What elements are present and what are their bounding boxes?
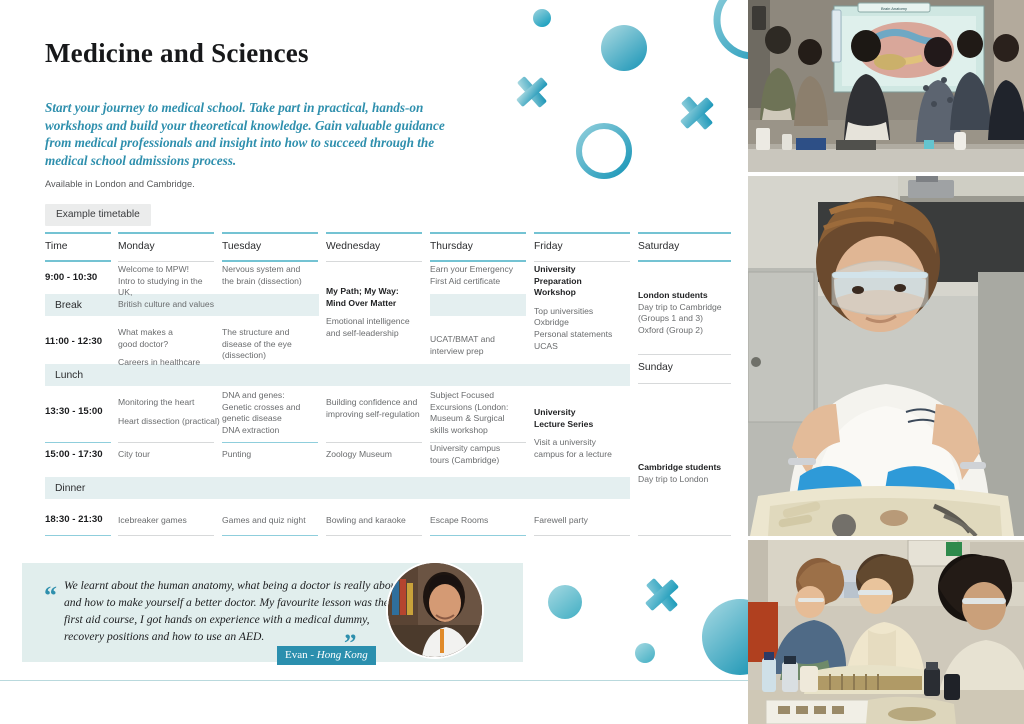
bottom-rule-friday <box>534 535 630 536</box>
cell-line: and self-leadership <box>326 328 399 338</box>
cell-line: British culture and values <box>118 299 214 309</box>
cell-line: Farewell party <box>534 515 588 525</box>
bottom-rule-saturday <box>638 535 731 536</box>
decorative-shapes-top <box>510 0 748 200</box>
deco-ring-medium <box>579 126 629 176</box>
brochure-page: Medicine and Sciences Start your journey… <box>0 0 1024 724</box>
cell-line: Earn your Emergency <box>430 264 513 274</box>
band-break-thursday-filler <box>430 294 526 316</box>
cell-wednesday-slot4: Zoology Museum <box>326 449 430 461</box>
column-header-saturday: Saturday <box>638 232 731 262</box>
deco-ring-large <box>717 0 748 56</box>
cell-line: Subject Focused <box>430 390 494 400</box>
cell-line: The structure and <box>222 327 289 337</box>
cell-wednesday-slot1: My Path; My Way: Mind Over Matter Emotio… <box>326 286 426 339</box>
page-intro: Start your journey to medical school. Ta… <box>45 99 465 169</box>
cell-tuesday-slot2: The structure and disease of the eye (di… <box>222 327 322 362</box>
row-rule-time <box>45 442 111 443</box>
timetable: Time Monday Tuesday Wednesday Thursday F… <box>45 232 731 537</box>
cell-monday-slot5: Icebreaker games <box>118 515 222 527</box>
cell-line-bold: Workshop <box>534 287 634 299</box>
cell-line: improving self-regulation <box>326 409 420 419</box>
deco-cross-right <box>672 88 723 139</box>
cell-line: good doctor? <box>118 339 168 349</box>
content-column: Medicine and Sciences Start your journey… <box>0 0 748 724</box>
cell-tuesday-slot1: Nervous system and the brain (dissection… <box>222 264 322 287</box>
cell-line: City tour <box>118 449 150 459</box>
cell-line: Icebreaker games <box>118 515 187 525</box>
testimonial-author: Evan - <box>285 649 317 661</box>
photo-strip: Brain Anatomy <box>748 0 1024 724</box>
cell-line: Emotional intelligence <box>326 316 410 326</box>
time-slot-5: 18:30 - 21:30 <box>45 514 103 525</box>
cell-line-bold: University <box>534 264 634 276</box>
cell-line: tours (Cambridge) <box>430 455 499 465</box>
deco-circle-small <box>533 9 551 27</box>
cell-line: Oxford (Group 2) <box>638 325 703 335</box>
row-rule-tuesday <box>222 442 318 443</box>
row-rule-monday <box>118 442 214 443</box>
row-rule-wednesday <box>326 442 422 443</box>
bottom-rule-wednesday <box>326 535 422 536</box>
photo-classroom-brain-anatomy: Brain Anatomy <box>748 0 1024 172</box>
time-slot-4: 15:00 - 17:30 <box>45 449 103 460</box>
cell-line: UCAS <box>534 341 558 351</box>
cell-line: Excursions (London: <box>430 402 508 412</box>
column-header-wednesday: Wednesday <box>326 232 422 262</box>
cell-tuesday-slot5: Games and quiz night <box>222 515 326 527</box>
cell-line: Nervous system and <box>222 264 300 274</box>
svg-text:Brain Anatomy: Brain Anatomy <box>881 6 907 11</box>
cell-line: Heart dissection (practical) <box>118 416 220 426</box>
cell-line: Welcome to MPW! <box>118 264 189 274</box>
cell-line-bold: Cambridge students <box>638 462 742 474</box>
cell-monday-slot2: What makes a good doctor? Careers in hea… <box>118 327 218 369</box>
cell-line: DNA extraction <box>222 425 279 435</box>
cell-thursday-slot3: Subject Focused Excursions (London: Muse… <box>430 390 534 467</box>
cell-thursday-slot2: UCAT/BMAT and interview prep <box>430 334 530 357</box>
deco-circle-bottom-large <box>702 599 748 675</box>
cell-line: (Groups 1 and 3) <box>638 313 703 323</box>
cell-monday-slot1: Welcome to MPW! Intro to studying in the… <box>118 264 218 310</box>
cell-line: disease of the eye <box>222 339 292 349</box>
cell-line: Top universities <box>534 306 593 316</box>
cell-line: Visit a university <box>534 437 596 447</box>
cell-line: genetic disease <box>222 413 282 423</box>
band-dinner: Dinner <box>45 477 630 499</box>
avatar <box>386 561 484 659</box>
cell-line: Zoology Museum <box>326 449 392 459</box>
cell-line: Careers in healthcare <box>118 357 200 367</box>
bottom-rule-time <box>45 535 111 536</box>
cell-line: Oxbridge <box>534 317 569 327</box>
cell-monday-slot3: Monitoring the heart Heart dissection (p… <box>118 397 222 427</box>
cell-line: Escape Rooms <box>430 515 488 525</box>
cell-line: UCAT/BMAT and <box>430 334 495 344</box>
deco-circle-large <box>601 25 647 71</box>
cell-wednesday-slot5: Bowling and karaoke <box>326 515 430 527</box>
quote-open-icon: “ <box>44 583 57 609</box>
cell-line: First Aid certificate <box>430 276 500 286</box>
column-header-tuesday: Tuesday <box>222 232 318 262</box>
cell-line: Games and quiz night <box>222 515 306 525</box>
cell-line: campus for a lecture <box>534 449 612 459</box>
deco-cross-bottom <box>637 570 688 621</box>
time-slot-3: 13:30 - 15:00 <box>45 406 103 417</box>
cell-line: Genetic crosses and <box>222 402 300 412</box>
time-slot-1: 9:00 - 10:30 <box>45 272 97 283</box>
column-header-time: Time <box>45 232 111 262</box>
cell-line: Monitoring the heart <box>118 397 194 407</box>
testimonial-attribution: Evan - Hong Kong <box>277 646 376 665</box>
cell-line-bold: My Path; My Way: <box>326 286 426 298</box>
time-slot-2: 11:00 - 12:30 <box>45 336 102 347</box>
deco-circle-bottom-tiny <box>635 643 655 663</box>
cell-monday-slot4: City tour <box>118 449 222 461</box>
cell-line-bold: London students <box>638 290 738 302</box>
cell-line: DNA and genes: <box>222 390 285 400</box>
deco-circle-bottom-left <box>548 585 582 619</box>
tab-example-timetable[interactable]: Example timetable <box>45 204 151 226</box>
cell-line: skills workshop <box>430 425 488 435</box>
cell-sunday-cambridge: Cambridge students Day trip to London <box>638 462 742 485</box>
column-header-friday: Friday <box>534 232 630 262</box>
deco-cross-left <box>510 68 556 116</box>
cell-line: Building confidence and <box>326 397 417 407</box>
bottom-rule-monday <box>118 535 214 536</box>
cell-friday-slot3: University Lecture Series Visit a univer… <box>534 407 638 460</box>
row-rule-thursday <box>430 442 526 443</box>
footer-divider <box>0 680 748 681</box>
cell-wednesday-slot3: Building confidence and improving self-r… <box>326 397 430 420</box>
cell-line: (dissection) <box>222 350 266 360</box>
photo-students-lab-specimens <box>748 540 1024 724</box>
cell-line-bold: Lecture Series <box>534 419 638 431</box>
photo-student-dissection <box>748 176 1024 536</box>
availability-note: Available in London and Cambridge. <box>45 179 195 189</box>
cell-line: Day trip to Cambridge <box>638 302 722 312</box>
cell-line: Day trip to London <box>638 474 708 484</box>
cell-line: University campus <box>430 443 500 453</box>
column-header-thursday: Thursday <box>430 232 526 262</box>
bottom-rule-thursday <box>430 535 526 536</box>
cell-line-bold: Preparation <box>534 276 634 288</box>
cell-line-bold: Mind Over Matter <box>326 298 426 310</box>
cell-line: What makes a <box>118 327 173 337</box>
cell-thursday-slot1: Earn your Emergency First Aid certificat… <box>430 264 530 287</box>
cell-line: the brain (dissection) <box>222 276 302 286</box>
decorative-shapes-bottom <box>525 560 748 680</box>
cell-line-bold: University <box>534 407 638 419</box>
cell-thursday-slot5: Escape Rooms <box>430 515 534 527</box>
cell-line: Intro to studying in the UK, <box>118 276 203 298</box>
cell-line: Personal statements <box>534 329 612 339</box>
cell-tuesday-slot3: DNA and genes: Genetic crosses and genet… <box>222 390 326 436</box>
cell-saturday-london: London students Day trip to Cambridge (G… <box>638 290 738 336</box>
cell-line: interview prep <box>430 346 484 356</box>
cell-line: Museum & Surgical <box>430 413 505 423</box>
testimonial-origin: Hong Kong <box>317 649 368 661</box>
cell-tuesday-slot4: Punting <box>222 449 326 461</box>
page-title: Medicine and Sciences <box>45 38 309 69</box>
cell-line: Punting <box>222 449 251 459</box>
cell-friday-slot5: Farewell party <box>534 515 638 527</box>
column-header-monday: Monday <box>118 232 214 262</box>
column-header-sunday: Sunday <box>638 354 731 384</box>
cell-line: Bowling and karaoke <box>326 515 406 525</box>
cell-friday-slot1: University Preparation Workshop Top univ… <box>534 264 634 352</box>
bottom-rule-tuesday <box>222 535 318 536</box>
